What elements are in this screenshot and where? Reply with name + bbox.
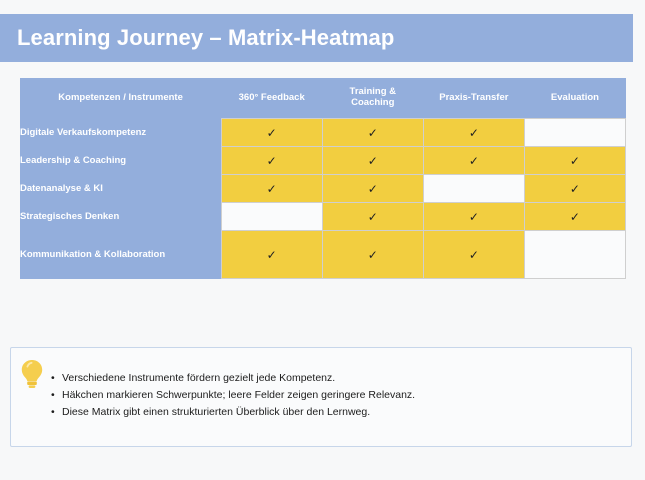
check-icon: ✓ [267, 154, 277, 168]
check-icon: ✓ [570, 154, 580, 168]
check-icon: ✓ [368, 126, 378, 140]
table-row: Digitale Verkaufskompetenz ✓ ✓ ✓ [20, 119, 626, 147]
slide-canvas: Learning Journey – Matrix-Heatmap Kompet… [0, 0, 645, 480]
matrix-cell[interactable]: ✓ [322, 175, 423, 203]
column-header-label: Kompetenzen / Instrumente [58, 92, 183, 103]
matrix-cell[interactable]: ✓ [322, 203, 423, 231]
table-header-row: Kompetenzen / Instrumente 360° Feedback … [20, 78, 626, 119]
matrix-cell[interactable] [423, 175, 524, 203]
check-icon: ✓ [570, 182, 580, 196]
matrix-cell[interactable]: ✓ [524, 147, 625, 175]
check-icon: ✓ [570, 210, 580, 224]
table-row: Datenanalyse & KI ✓ ✓ ✓ [20, 175, 626, 203]
check-icon: ✓ [469, 248, 479, 262]
check-icon: ✓ [267, 126, 277, 140]
matrix-cell[interactable]: ✓ [221, 231, 322, 279]
list-item: Verschiedene Instrumente fördern gezielt… [51, 370, 415, 387]
check-icon: ✓ [267, 182, 277, 196]
matrix-cell[interactable] [524, 119, 625, 147]
matrix-cell[interactable]: ✓ [423, 147, 524, 175]
check-icon: ✓ [368, 248, 378, 262]
table-row: Strategisches Denken ✓ ✓ ✓ [20, 203, 626, 231]
row-header-strategisches-denken: Strategisches Denken [20, 203, 221, 231]
check-icon: ✓ [368, 210, 378, 224]
matrix-cell[interactable]: ✓ [221, 147, 322, 175]
column-header-label-line1: Evaluation [551, 92, 599, 103]
matrix-cell[interactable]: ✓ [322, 147, 423, 175]
column-header-label-line1: 360° Feedback [239, 92, 305, 103]
matrix-heatmap-table: Kompetenzen / Instrumente 360° Feedback … [20, 78, 626, 279]
matrix-cell[interactable]: ✓ [322, 231, 423, 279]
matrix-cell[interactable]: ✓ [221, 119, 322, 147]
check-icon: ✓ [469, 210, 479, 224]
row-header-leadership-coaching: Leadership & Coaching [20, 147, 221, 175]
row-header-kommunikation-kollaboration: Kommunikation & Kollaboration [20, 231, 221, 279]
slide-title-bar: Learning Journey – Matrix-Heatmap [0, 14, 633, 62]
check-icon: ✓ [469, 154, 479, 168]
column-header-label-line2: Coaching [351, 97, 394, 108]
matrix-cell[interactable]: ✓ [524, 175, 625, 203]
matrix-cell[interactable]: ✓ [221, 175, 322, 203]
matrix-cell[interactable]: ✓ [322, 119, 423, 147]
matrix-cell[interactable] [524, 231, 625, 279]
row-header-digitale-verkaufskompetenz: Digitale Verkaufskompetenz [20, 119, 221, 147]
column-header-evaluation: Evaluation [524, 78, 625, 119]
column-header-360-feedback: 360° Feedback [221, 78, 322, 119]
check-icon: ✓ [469, 126, 479, 140]
notes-box: Verschiedene Instrumente fördern gezielt… [10, 347, 632, 447]
notes-list: Verschiedene Instrumente fördern gezielt… [51, 370, 415, 421]
row-header-datenanalyse-ki: Datenanalyse & KI [20, 175, 221, 203]
matrix-cell[interactable]: ✓ [423, 231, 524, 279]
matrix-cell[interactable]: ✓ [423, 203, 524, 231]
column-header-praxis-transfer: Praxis-Transfer [423, 78, 524, 119]
check-icon: ✓ [368, 154, 378, 168]
list-item: Häkchen markieren Schwerpunkte; leere Fe… [51, 387, 415, 404]
check-icon: ✓ [368, 182, 378, 196]
matrix-cell[interactable]: ✓ [524, 203, 625, 231]
column-header-label-line1: Training & [350, 86, 396, 97]
column-header-kompetenzen: Kompetenzen / Instrumente [20, 78, 221, 119]
check-icon: ✓ [267, 248, 277, 262]
column-header-training-coaching: Training & Coaching [322, 78, 423, 119]
column-header-label-line1: Praxis-Transfer [439, 92, 508, 103]
matrix-cell[interactable] [221, 203, 322, 231]
page-title: Learning Journey – Matrix-Heatmap [0, 25, 394, 51]
matrix-cell[interactable]: ✓ [423, 119, 524, 147]
list-item: Diese Matrix gibt einen strukturierten Ü… [51, 404, 415, 421]
table-row: Leadership & Coaching ✓ ✓ ✓ ✓ [20, 147, 626, 175]
lightbulb-icon [19, 358, 45, 395]
table-row: Kommunikation & Kollaboration ✓ ✓ ✓ [20, 231, 626, 279]
